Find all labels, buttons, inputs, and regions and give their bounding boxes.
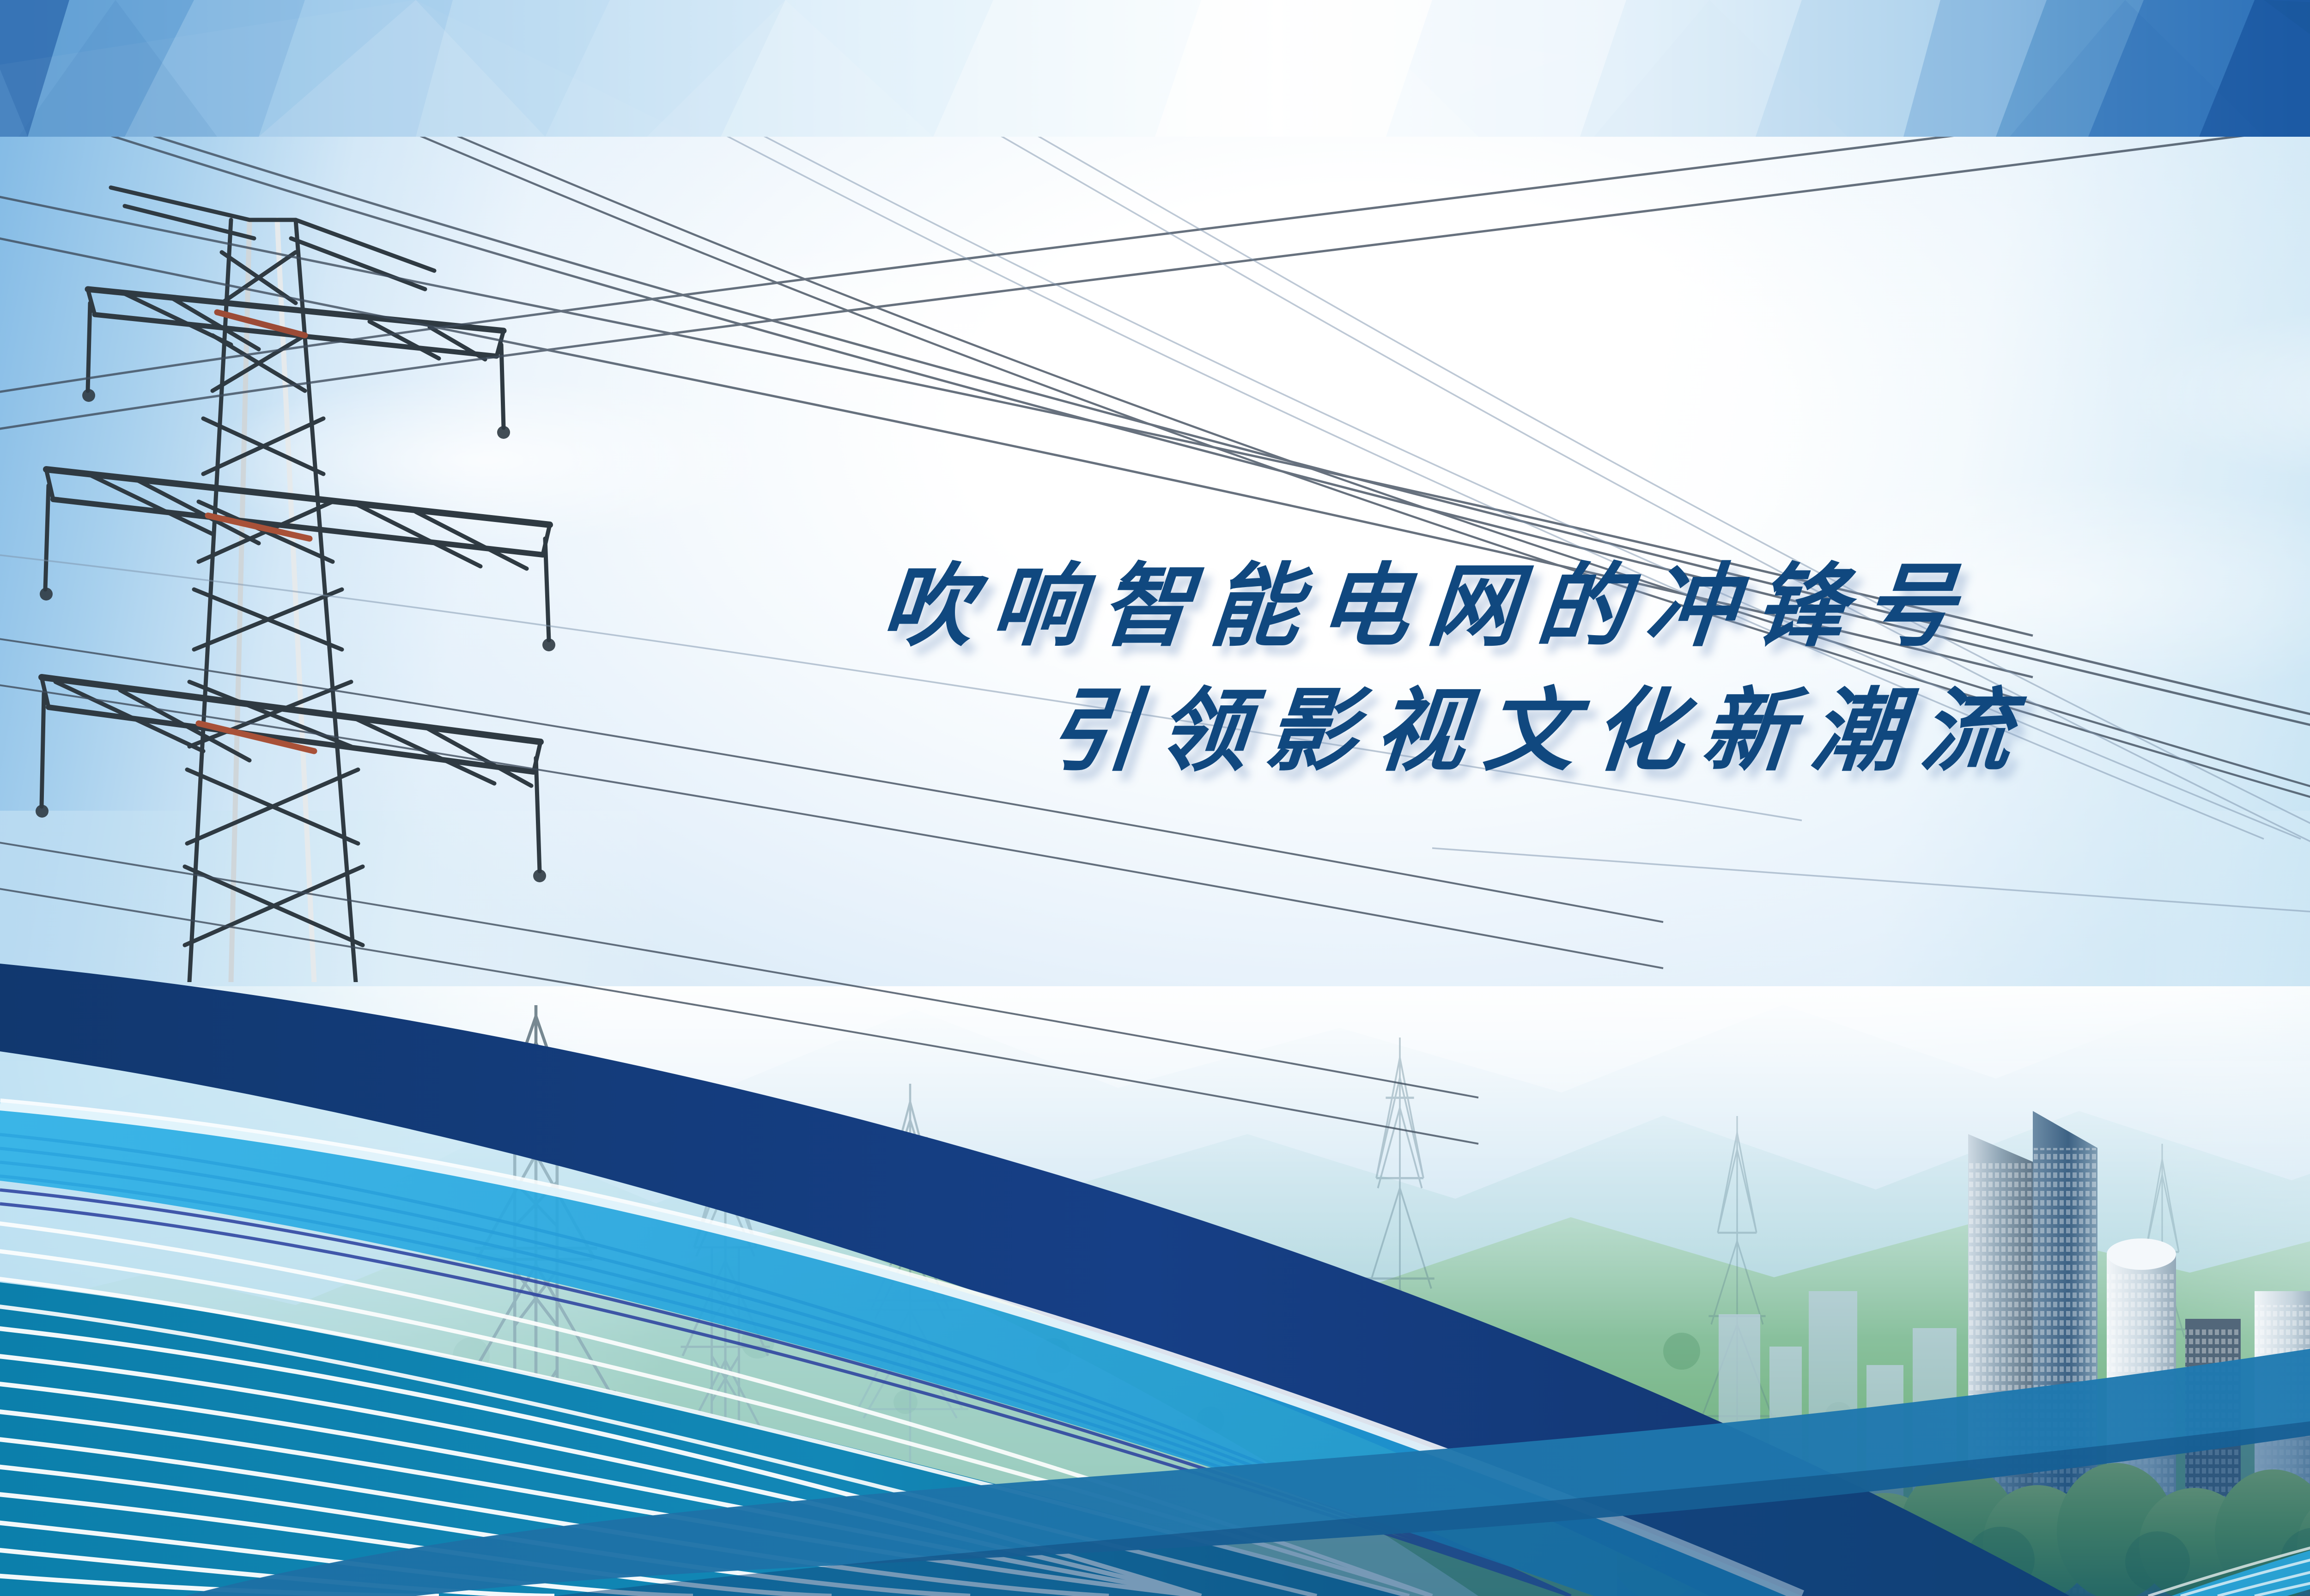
riverside-greenbelt [1617, 1402, 2310, 1596]
low-poly-graphic [0, 0, 2310, 137]
transmission-tower-mid-2 [1321, 1038, 1478, 1499]
scene-photo [0, 137, 2310, 1596]
transmission-tower-near-1 [407, 1005, 665, 1513]
transmission-tower-left [0, 151, 665, 982]
low-poly-header-band [0, 0, 2310, 137]
transmission-tower-near-2 [628, 1130, 822, 1546]
poster-canvas: 吹响智能电网的冲锋号 引领影视文化新潮流 [0, 0, 2310, 1596]
transmission-tower-mid-1 [813, 1084, 1007, 1499]
